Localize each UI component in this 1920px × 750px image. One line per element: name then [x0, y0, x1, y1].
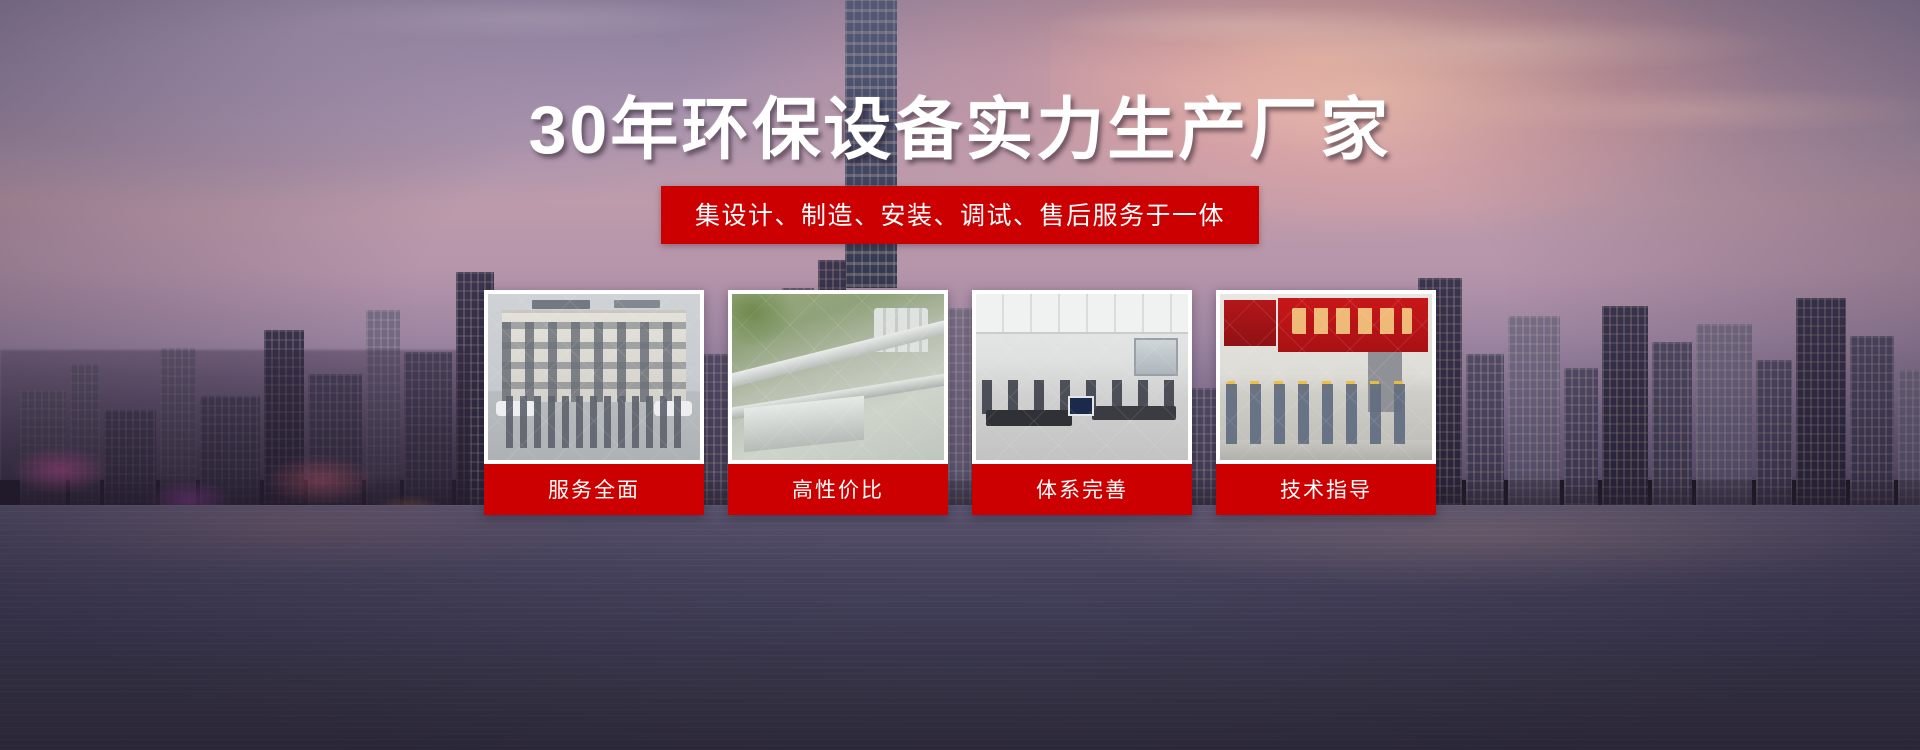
feature-card[interactable]: 高性价比	[728, 290, 948, 515]
feature-card[interactable]: 服务全面	[484, 290, 704, 515]
feature-card-label: 服务全面	[484, 464, 704, 515]
card-photo-factory-workers	[1220, 294, 1432, 460]
card-photo-aerial-plant	[732, 294, 944, 460]
card-photo-office-building	[488, 294, 700, 460]
feature-card-list: 服务全面 高性价比	[484, 290, 1436, 515]
feature-card-label: 高性价比	[728, 464, 948, 515]
card-photo-office-meeting	[976, 294, 1188, 460]
feature-card[interactable]: 体系完善	[972, 290, 1192, 515]
feature-card[interactable]: 技术指导	[1216, 290, 1436, 515]
feature-card-label: 体系完善	[972, 464, 1192, 515]
feature-card-label: 技术指导	[1216, 464, 1436, 515]
banner-content: 30年环保设备实力生产厂家 集设计、制造、安装、调试、售后服务于一体 服务全面	[0, 0, 1920, 750]
banner-subtitle-ribbon: 集设计、制造、安装、调试、售后服务于一体	[661, 186, 1259, 244]
banner-headline: 30年环保设备实力生产厂家	[529, 96, 1392, 164]
hero-banner: 30年环保设备实力生产厂家 集设计、制造、安装、调试、售后服务于一体 服务全面	[0, 0, 1920, 750]
